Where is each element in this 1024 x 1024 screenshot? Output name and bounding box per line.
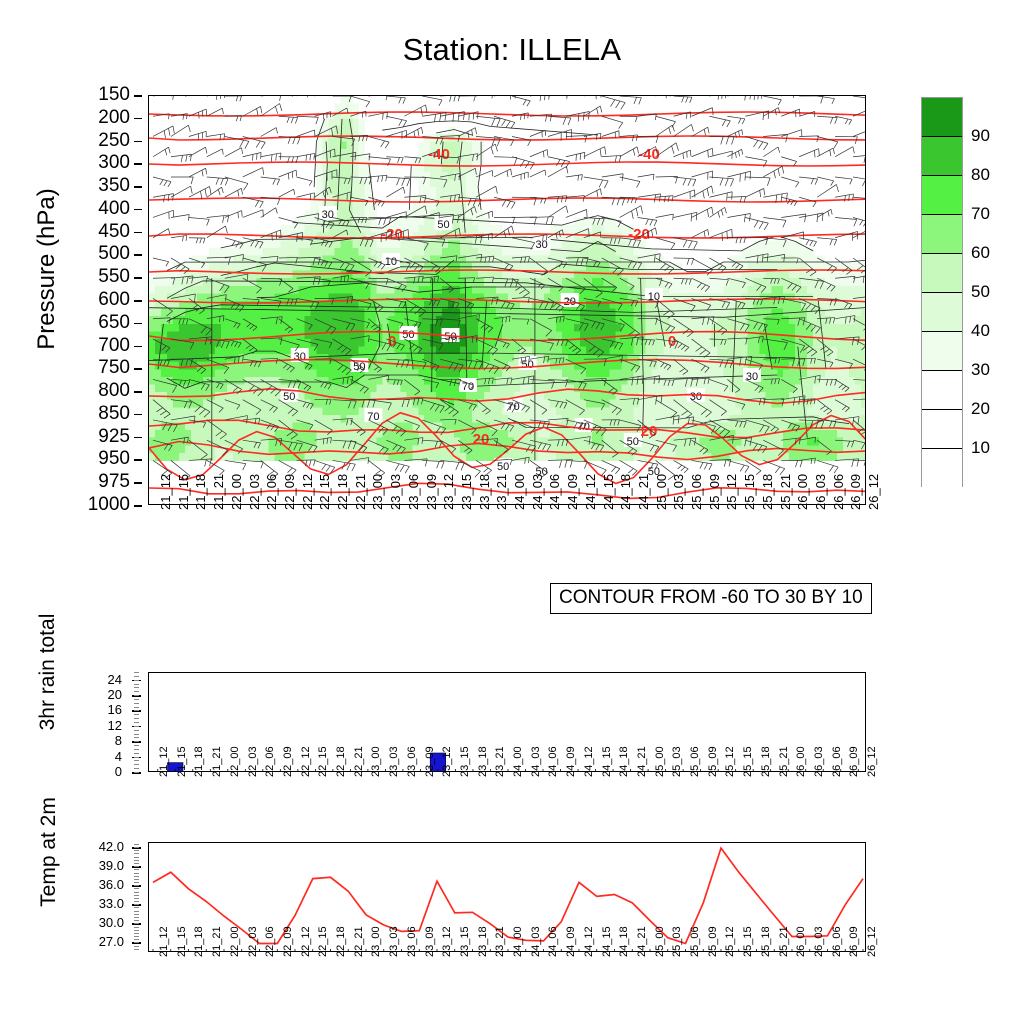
temp-minor-tick	[134, 876, 139, 877]
time-tick-23_06: 23_06	[406, 474, 421, 510]
time-tick-26_00: 26_00	[795, 746, 807, 777]
pressure-tickmark	[134, 209, 142, 211]
pressure-tickmark	[134, 368, 142, 370]
temp-minor-tick	[134, 885, 139, 886]
time-tick-23_15: 23_15	[459, 746, 471, 777]
temp-minor-tick	[134, 939, 139, 940]
rain-minor-tick	[134, 672, 139, 673]
pressure-tick-850: 850	[70, 404, 130, 423]
rain-minor-tick	[134, 757, 139, 758]
main-time-axis-labels: 21_1221_1521_1821_2122_0022_0322_0622_09…	[148, 508, 866, 568]
pressure-tickmark	[134, 141, 142, 143]
temp-minor-tick	[134, 847, 139, 848]
time-tick-26_00: 26_00	[795, 926, 807, 957]
svg-text:30: 30	[294, 351, 306, 363]
time-tick-23_21: 23_21	[494, 474, 509, 510]
temp-tick-36: 36.0	[76, 878, 124, 891]
colorbar-band-2	[922, 176, 962, 215]
svg-text:50: 50	[627, 436, 639, 448]
pressure-tick-1000: 1000	[70, 495, 130, 514]
time-tick-24_15: 24_15	[601, 926, 613, 957]
temp-minor-tick	[134, 863, 139, 864]
time-tick-22_21: 22_21	[353, 474, 368, 510]
time-tick-24_00: 24_00	[512, 746, 524, 777]
temp-minor-tick	[134, 879, 139, 880]
temp-minor-tick	[134, 933, 139, 934]
colorbar-band-3	[922, 215, 962, 254]
svg-text:30: 30	[746, 371, 758, 383]
rain-minor-tick	[134, 741, 139, 742]
temp-minor-tick	[134, 850, 139, 851]
time-tick-23_09: 23_09	[424, 474, 439, 510]
time-tick-21_18: 21_18	[193, 474, 208, 510]
time-tick-23_00: 23_00	[370, 746, 382, 777]
pressure-tick-975: 975	[70, 472, 130, 491]
time-tick-24_09: 24_09	[565, 926, 577, 957]
time-tick-23_03: 23_03	[388, 474, 403, 510]
colorbar-band-0	[922, 98, 962, 137]
temp-minor-tick	[134, 911, 139, 912]
time-tick-25_03: 25_03	[671, 474, 686, 510]
pressure-tickmark	[134, 118, 142, 120]
pressure-tick-950: 950	[70, 449, 130, 468]
temp-minor-tick	[134, 866, 139, 867]
pressure-tickmark	[134, 437, 142, 439]
pressure-tick-750: 750	[70, 358, 130, 377]
time-tick-22_21: 22_21	[353, 746, 365, 777]
temp-minor-tick	[134, 882, 139, 883]
svg-text:-20: -20	[381, 226, 403, 243]
time-tick-22_18: 22_18	[335, 746, 347, 777]
time-tick-21_12: 21_12	[158, 474, 173, 510]
time-tick-24_09: 24_09	[565, 746, 577, 777]
time-tick-24_00: 24_00	[512, 926, 524, 957]
colorbar-band-9	[922, 449, 962, 488]
contour-note: CONTOUR FROM -60 TO 30 BY 10	[550, 583, 872, 614]
time-tick-23_03: 23_03	[388, 746, 400, 777]
time-tick-24_03: 24_03	[530, 926, 542, 957]
time-tick-21_21: 21_21	[211, 746, 223, 777]
rain-minor-tick	[134, 687, 139, 688]
time-tick-22_09: 22_09	[282, 474, 297, 510]
time-tick-26_03: 26_03	[813, 474, 828, 510]
rain-minor-tick	[134, 730, 139, 731]
svg-text:30: 30	[322, 209, 334, 221]
time-tick-26_12: 26_12	[866, 926, 878, 957]
time-tick-21_18: 21_18	[193, 926, 205, 957]
time-tick-23_15: 23_15	[459, 926, 471, 957]
rain-tick-12: 12	[82, 719, 122, 732]
rain-minor-tick	[134, 753, 139, 754]
time-tick-24_18: 24_18	[618, 926, 630, 957]
pressure-tickmark	[134, 482, 142, 484]
pressure-tickmark	[134, 232, 142, 234]
pressure-tickmark	[134, 505, 142, 507]
colorbar-band-5	[922, 293, 962, 332]
time-tick-24_06: 24_06	[547, 474, 562, 510]
time-tick-26_09: 26_09	[848, 746, 860, 777]
temp-minor-tick	[134, 936, 139, 937]
rain-minor-tick	[134, 722, 139, 723]
temp-minor-tick	[134, 892, 139, 893]
pressure-tick-800: 800	[70, 381, 130, 400]
rain-minor-tick	[134, 695, 139, 696]
pressure-tick-700: 700	[70, 336, 130, 355]
time-tick-25_12: 25_12	[724, 926, 736, 957]
time-tick-25_09: 25_09	[707, 746, 719, 777]
pressure-tickmark	[134, 300, 142, 302]
svg-text:50: 50	[437, 219, 449, 231]
time-tick-25_03: 25_03	[671, 746, 683, 777]
temp-axis-ticks: 27.030.033.036.039.042.0	[80, 842, 140, 952]
rain-axis-ticks: 04812162024	[88, 672, 140, 772]
temp-tick-30: 30.0	[76, 916, 124, 929]
colorbar-band-1	[922, 137, 962, 176]
colorbar-label-10: 10	[971, 439, 990, 456]
temp-minor-tick	[134, 942, 139, 943]
time-tick-22_15: 22_15	[317, 926, 329, 957]
time-tick-22_03: 22_03	[247, 926, 259, 957]
temp-minor-tick	[134, 857, 139, 858]
time-tick-25_15: 25_15	[742, 746, 754, 777]
time-tick-24_12: 24_12	[583, 474, 598, 510]
pressure-tick-150: 150	[70, 85, 130, 104]
time-tick-22_15: 22_15	[317, 474, 332, 510]
time-tick-22_09: 22_09	[282, 926, 294, 957]
time-tick-22_06: 22_06	[264, 746, 276, 777]
rain-minor-tick	[134, 749, 139, 750]
time-tick-22_18: 22_18	[335, 474, 350, 510]
colorbar-label-20: 20	[971, 400, 990, 417]
pressure-tickmark	[134, 323, 142, 325]
rain-tick-0: 0	[82, 765, 122, 778]
time-tick-21_12: 21_12	[158, 926, 170, 957]
time-tick-22_06: 22_06	[264, 474, 279, 510]
colorbar-label-40: 40	[971, 322, 990, 339]
rain-tick-4: 4	[82, 750, 122, 763]
colorbar-label-30: 30	[971, 361, 990, 378]
time-tick-25_06: 25_06	[689, 926, 701, 957]
time-tick-22_21: 22_21	[353, 926, 365, 957]
time-tick-22_03: 22_03	[247, 746, 259, 777]
rain-minor-tick	[134, 699, 139, 700]
time-tick-24_00: 24_00	[512, 474, 527, 510]
time-tick-22_15: 22_15	[317, 746, 329, 777]
time-tick-23_18: 23_18	[477, 746, 489, 777]
time-tick-21_15: 21_15	[176, 926, 188, 957]
svg-text:50: 50	[497, 461, 509, 473]
temp-minor-tick	[134, 895, 139, 896]
temp-minor-tick	[134, 914, 139, 915]
time-tick-25_15: 25_15	[742, 474, 757, 510]
svg-text:30: 30	[690, 391, 702, 403]
time-tick-24_15: 24_15	[601, 746, 613, 777]
time-tick-22_18: 22_18	[335, 926, 347, 957]
time-tick-21_21: 21_21	[211, 926, 223, 957]
temp-minor-tick	[134, 853, 139, 854]
time-tick-23_21: 23_21	[494, 926, 506, 957]
time-tick-22_03: 22_03	[247, 474, 262, 510]
time-tick-22_00: 22_00	[229, 926, 241, 957]
time-tick-23_00: 23_00	[370, 474, 385, 510]
colorbar-band-6	[922, 332, 962, 371]
temp-tick-27: 27.0	[76, 935, 124, 948]
time-tick-23_06: 23_06	[406, 926, 418, 957]
temp-minor-tick	[134, 898, 139, 899]
time-tick-21_18: 21_18	[193, 746, 205, 777]
pressure-tick-200: 200	[70, 108, 130, 127]
time-tick-25_09: 25_09	[707, 926, 719, 957]
pressure-tick-925: 925	[70, 427, 130, 446]
time-tick-22_00: 22_00	[229, 746, 241, 777]
time-tick-25_21: 25_21	[778, 926, 790, 957]
rain-minor-tick	[134, 737, 139, 738]
rain-minor-tick	[134, 707, 139, 708]
colorbar-label-50: 50	[971, 283, 990, 300]
cross-section-canvas: 1030505030201050305050507070707050503030…	[149, 96, 866, 505]
temp-minor-tick	[134, 873, 139, 874]
time-tick-21_15: 21_15	[176, 474, 191, 510]
time-tick-25_09: 25_09	[707, 474, 722, 510]
pressure-tick-600: 600	[70, 290, 130, 309]
pressure-tick-650: 650	[70, 313, 130, 332]
time-tick-21_12: 21_12	[158, 746, 170, 777]
pressure-axis-ticks: 1502002503003504004505005506006507007508…	[78, 95, 140, 505]
rain-tick-24: 24	[82, 673, 122, 686]
temp-minor-tick	[134, 920, 139, 921]
pressure-tickmark	[134, 95, 142, 97]
temp-minor-tick	[134, 860, 139, 861]
time-tick-25_18: 25_18	[760, 926, 772, 957]
pressure-tick-250: 250	[70, 131, 130, 150]
rain-tick-8: 8	[82, 734, 122, 747]
time-tick-24_09: 24_09	[565, 474, 580, 510]
time-tick-23_00: 23_00	[370, 926, 382, 957]
time-tick-25_21: 25_21	[778, 746, 790, 777]
pressure-tick-500: 500	[70, 244, 130, 263]
pressure-tickmark	[134, 414, 142, 416]
page-title: Station: ILLELA	[0, 32, 1024, 68]
colorbar-bands	[921, 97, 963, 487]
time-tick-26_03: 26_03	[813, 746, 825, 777]
pressure-tickmark	[134, 346, 142, 348]
time-tick-25_18: 25_18	[760, 474, 775, 510]
time-tick-22_06: 22_06	[264, 926, 276, 957]
temp-minor-tick	[134, 949, 139, 950]
time-tick-26_12: 26_12	[866, 746, 878, 777]
temp-axis-label: Temp at 2m	[37, 737, 61, 967]
time-tick-23_12: 23_12	[441, 746, 453, 777]
time-tick-24_06: 24_06	[547, 746, 559, 777]
colorbar-label-80: 80	[971, 166, 990, 183]
pressure-tick-400: 400	[70, 199, 130, 218]
rain-minor-tick	[134, 745, 139, 746]
svg-text:20: 20	[641, 423, 658, 440]
temp-minor-tick	[134, 923, 139, 924]
time-tick-22_12: 22_12	[300, 746, 312, 777]
pressure-tickmark	[134, 459, 142, 461]
pressure-tick-300: 300	[70, 153, 130, 172]
time-tick-23_03: 23_03	[388, 926, 400, 957]
pressure-axis-label: Pressure (hPa)	[33, 104, 61, 434]
time-tick-24_12: 24_12	[583, 746, 595, 777]
temp-time-axis-labels: 21_1221_1521_1821_2122_0022_0322_0622_09…	[148, 955, 866, 1015]
rain-minor-tick	[134, 718, 139, 719]
time-tick-26_12: 26_12	[866, 474, 881, 510]
time-tick-24_03: 24_03	[530, 474, 545, 510]
time-tick-23_15: 23_15	[459, 474, 474, 510]
temp-minor-tick	[134, 888, 139, 889]
time-tick-25_06: 25_06	[689, 746, 701, 777]
temp-minor-tick	[134, 946, 139, 947]
time-tick-24_18: 24_18	[618, 746, 630, 777]
time-tick-23_09: 23_09	[424, 746, 436, 777]
colorbar-band-8	[922, 410, 962, 449]
time-tick-25_12: 25_12	[724, 746, 736, 777]
svg-text:50: 50	[283, 391, 295, 403]
time-tick-25_21: 25_21	[778, 474, 793, 510]
time-tick-23_06: 23_06	[406, 746, 418, 777]
time-tick-26_06: 26_06	[831, 746, 843, 777]
time-tick-26_09: 26_09	[848, 474, 863, 510]
temp-minor-tick	[134, 907, 139, 908]
rain-minor-tick	[134, 764, 139, 765]
time-tick-25_18: 25_18	[760, 746, 772, 777]
colorbar: 908070605040302010	[921, 97, 1021, 487]
temp-minor-tick	[134, 917, 139, 918]
rain-tick-16: 16	[82, 703, 122, 716]
pressure-tickmark	[134, 163, 142, 165]
pressure-tickmark	[134, 277, 142, 279]
time-tick-25_06: 25_06	[689, 474, 704, 510]
svg-text:70: 70	[367, 411, 379, 423]
time-tick-25_15: 25_15	[742, 926, 754, 957]
temp-tick-33: 33.0	[76, 897, 124, 910]
temp-minor-tick	[134, 904, 139, 905]
time-tick-24_21: 24_21	[636, 746, 648, 777]
time-tick-25_00: 25_00	[654, 474, 669, 510]
rain-minor-tick	[134, 676, 139, 677]
svg-text:-40: -40	[428, 146, 450, 163]
time-tick-26_00: 26_00	[795, 474, 810, 510]
temp-tick-42: 42.0	[76, 840, 124, 853]
rain-minor-tick	[134, 760, 139, 761]
colorbar-band-4	[922, 254, 962, 293]
rain-minor-tick	[134, 710, 139, 711]
time-tick-23_12: 23_12	[441, 926, 453, 957]
time-tick-23_09: 23_09	[424, 926, 436, 957]
time-tick-26_03: 26_03	[813, 926, 825, 957]
temp-minor-tick	[134, 927, 139, 928]
time-tick-24_03: 24_03	[530, 746, 542, 777]
rain-minor-tick	[134, 768, 139, 769]
time-tick-21_21: 21_21	[211, 474, 226, 510]
time-tick-25_00: 25_00	[654, 926, 666, 957]
time-tick-23_21: 23_21	[494, 746, 506, 777]
time-tick-21_15: 21_15	[176, 746, 188, 777]
time-tick-24_06: 24_06	[547, 926, 559, 957]
time-tick-25_00: 25_00	[654, 746, 666, 777]
time-tick-24_21: 24_21	[636, 926, 648, 957]
rain-minor-tick	[134, 680, 139, 681]
time-tick-23_18: 23_18	[477, 926, 489, 957]
time-tick-23_18: 23_18	[477, 474, 492, 510]
rain-minor-tick	[134, 772, 139, 773]
colorbar-label-60: 60	[971, 244, 990, 261]
time-tick-25_03: 25_03	[671, 926, 683, 957]
rain-time-axis-labels: 21_1221_1521_1821_2122_0022_0322_0622_09…	[148, 775, 866, 835]
rain-minor-tick	[134, 734, 139, 735]
time-tick-22_12: 22_12	[300, 474, 315, 510]
temp-minor-tick	[134, 930, 139, 931]
time-tick-26_06: 26_06	[831, 474, 846, 510]
temp-minor-tick	[134, 901, 139, 902]
time-tick-22_00: 22_00	[229, 474, 244, 510]
pressure-tickmark	[134, 391, 142, 393]
humidity-cross-section-plot[interactable]: 1030505030201050305050507070707050503030…	[148, 95, 866, 505]
time-tick-23_12: 23_12	[441, 474, 456, 510]
temp-minor-tick	[134, 869, 139, 870]
temp-minor-tick	[134, 844, 139, 845]
svg-text:50: 50	[402, 329, 414, 341]
time-tick-22_09: 22_09	[282, 746, 294, 777]
pressure-tick-550: 550	[70, 267, 130, 286]
pressure-tickmark	[134, 254, 142, 256]
pressure-tickmark	[134, 186, 142, 188]
time-tick-24_21: 24_21	[636, 474, 651, 510]
pressure-tick-350: 350	[70, 176, 130, 195]
rain-minor-tick	[134, 726, 139, 727]
time-tick-26_09: 26_09	[848, 926, 860, 957]
rain-minor-tick	[134, 703, 139, 704]
rain-minor-tick	[134, 691, 139, 692]
pressure-tick-450: 450	[70, 222, 130, 241]
time-tick-24_18: 24_18	[618, 474, 633, 510]
time-tick-25_12: 25_12	[724, 474, 739, 510]
time-tick-24_12: 24_12	[583, 926, 595, 957]
rain-minor-tick	[134, 684, 139, 685]
time-tick-22_12: 22_12	[300, 926, 312, 957]
time-tick-26_06: 26_06	[831, 926, 843, 957]
colorbar-label-70: 70	[971, 205, 990, 222]
rain-minor-tick	[134, 714, 139, 715]
svg-text:50: 50	[522, 359, 534, 371]
time-tick-24_15: 24_15	[601, 474, 616, 510]
colorbar-label-90: 90	[971, 127, 990, 144]
temp-tick-39: 39.0	[76, 859, 124, 872]
svg-text:30: 30	[536, 239, 548, 251]
colorbar-band-7	[922, 371, 962, 410]
rain-tick-20: 20	[82, 688, 122, 701]
